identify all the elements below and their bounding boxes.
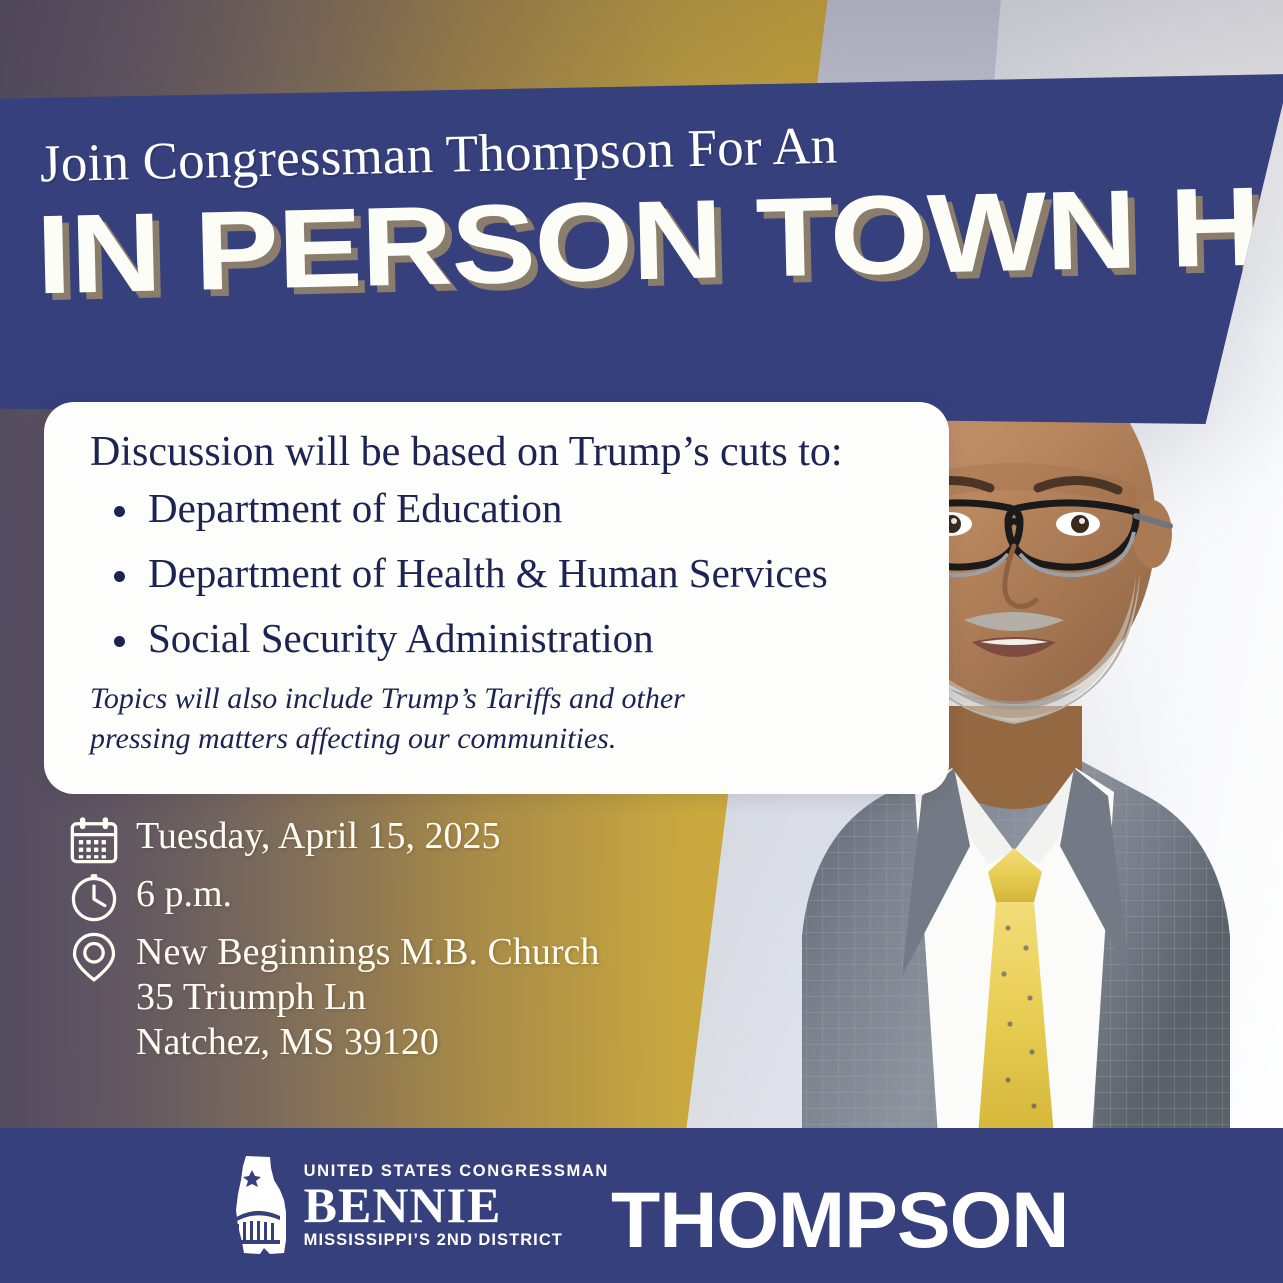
discussion-lead-text: Discussion will be based on Trump’s cuts… [90, 428, 843, 476]
list-item: Department of Health & Human Services [102, 553, 828, 594]
venue-city-state-zip: Natchez, MS 39120 [136, 1020, 599, 1065]
additional-topics-note: Topics will also include Trump’s Tariffs… [90, 679, 790, 759]
footer-band: UNITED STATES CONGRESSMAN BENNIE MISSISS… [0, 1128, 1283, 1283]
discussion-topics-list: Department of Education Department of He… [102, 488, 828, 683]
venue-name: New Beginnings M.B. Church [136, 930, 599, 975]
event-location-row: New Beginnings M.B. Church 35 Triumph Ln… [68, 928, 768, 1064]
event-location-text: New Beginnings M.B. Church 35 Triumph Ln… [136, 928, 599, 1064]
logo-district-line: MISSISSIPPI’S 2ND DISTRICT [304, 1232, 609, 1249]
map-pin-icon [68, 930, 120, 982]
list-item: Department of Education [102, 488, 828, 529]
mississippi-state-outline-icon [224, 1154, 298, 1258]
logo-first-name: BENNIE [304, 1182, 609, 1228]
header-banner: Join Congressman Thompson For An IN PERS… [0, 74, 1283, 424]
event-details: Tuesday, April 15, 2025 6 p.m. [68, 812, 768, 1068]
poster-canvas: Join Congressman Thompson For An IN PERS… [0, 0, 1283, 1283]
congressman-logo: UNITED STATES CONGRESSMAN BENNIE MISSISS… [224, 1153, 1060, 1259]
clock-icon [68, 872, 120, 924]
list-item: Social Security Administration [102, 618, 828, 659]
header-banner-inner: Join Congressman Thompson For An IN PERS… [0, 43, 1283, 424]
note-line-2: pressing matters affecting our communiti… [90, 722, 616, 755]
logo-name-stack: UNITED STATES CONGRESSMAN BENNIE MISSISS… [304, 1163, 609, 1249]
note-line-1: Topics will also include Trump’s Tariffs… [90, 682, 685, 715]
event-date-text: Tuesday, April 15, 2025 [136, 812, 501, 859]
event-time-row: 6 p.m. [68, 870, 768, 924]
event-time-line: 6 p.m. [136, 872, 232, 917]
discussion-card: Discussion will be based on Trump’s cuts… [44, 402, 949, 794]
event-date-line: Tuesday, April 15, 2025 [136, 814, 501, 859]
event-time-text: 6 p.m. [136, 870, 232, 917]
calendar-icon [68, 814, 120, 866]
logo-wordmark: UNITED STATES CONGRESSMAN BENNIE MISSISS… [304, 1163, 1060, 1249]
event-date-row: Tuesday, April 15, 2025 [68, 812, 768, 866]
venue-street: 35 Triumph Ln [136, 975, 599, 1020]
logo-last-name: THOMPSON [611, 1188, 1068, 1253]
